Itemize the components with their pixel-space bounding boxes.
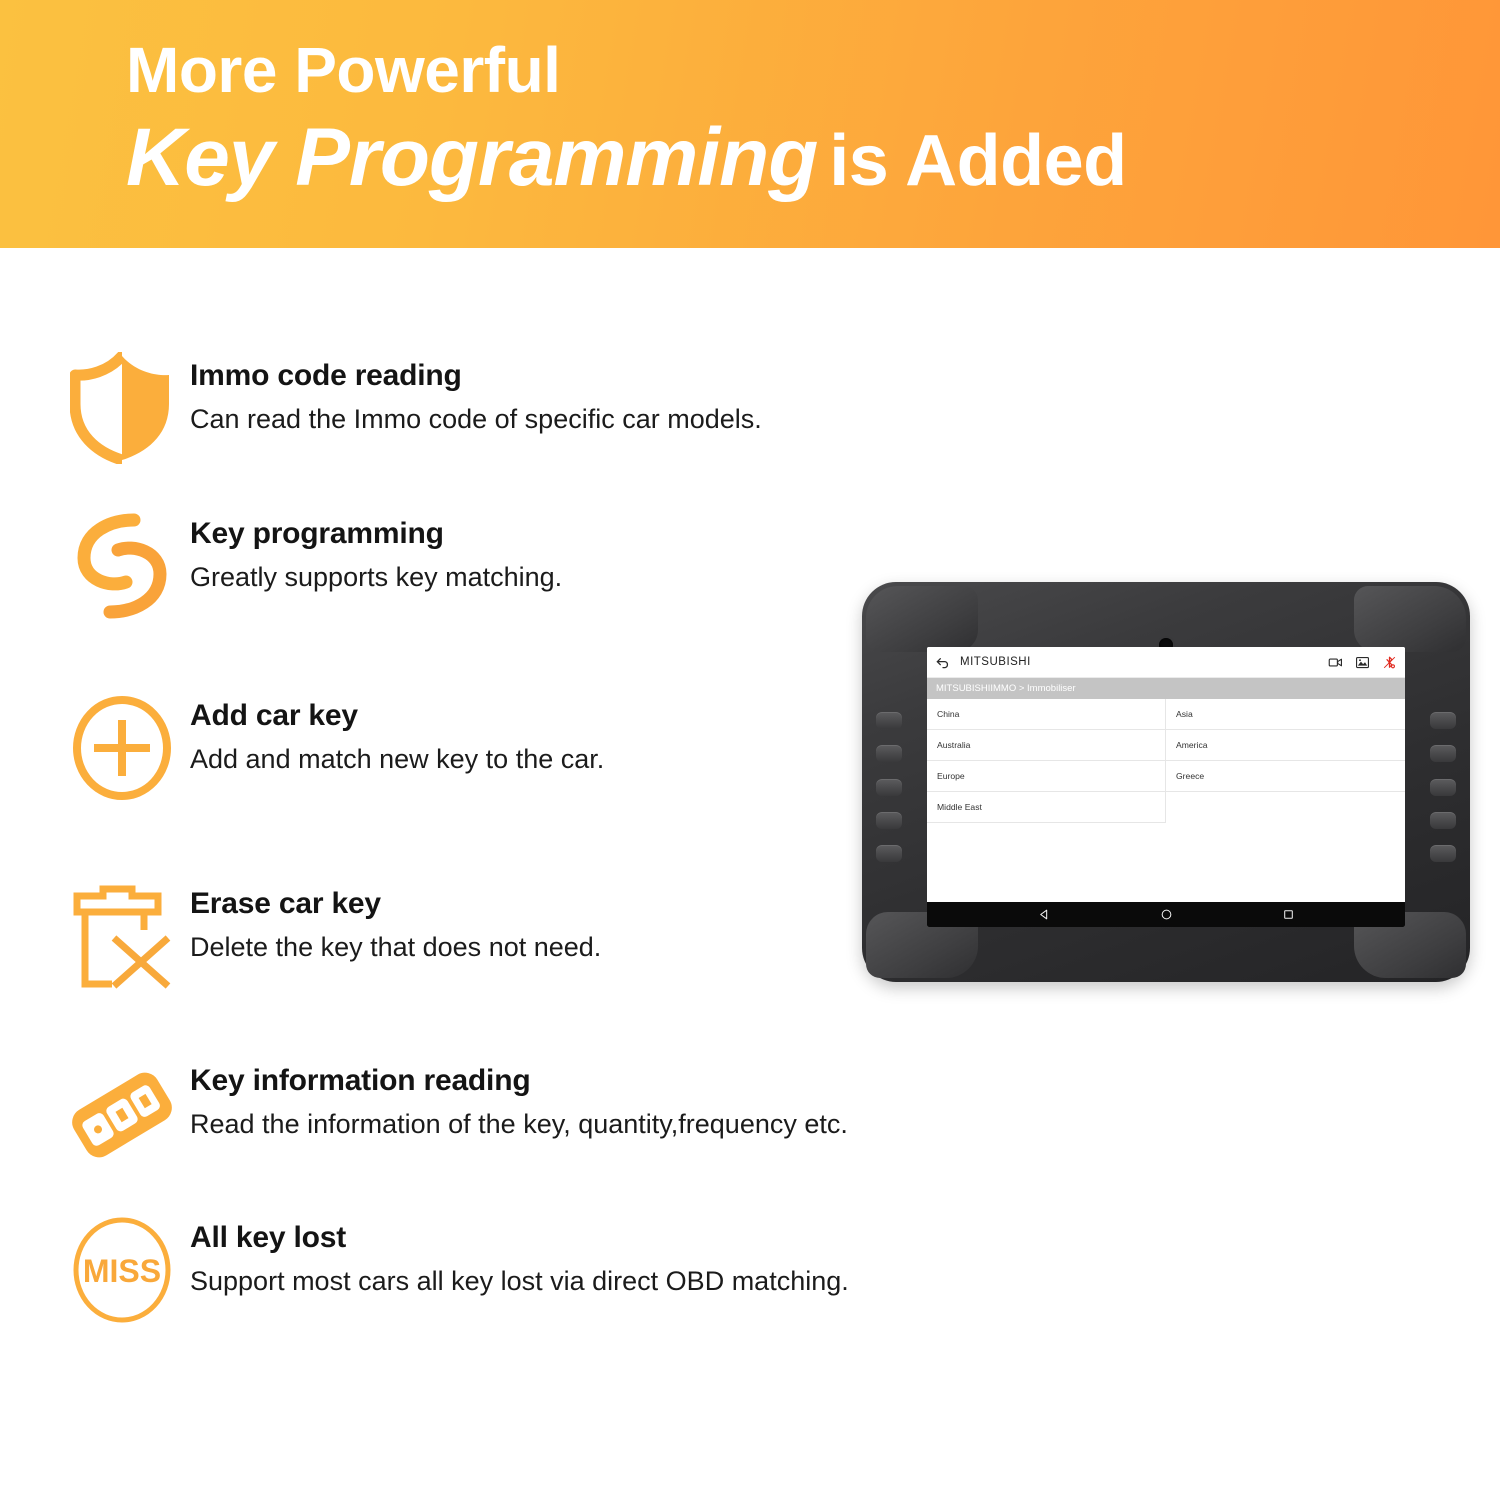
feature-item-all-key-lost: MISS All key lost Support most cars all … bbox=[60, 1214, 849, 1326]
menu-item-empty bbox=[1166, 792, 1405, 823]
grip-ridge bbox=[876, 812, 902, 829]
feature-description: Greatly supports key matching. bbox=[190, 561, 562, 595]
grip-ridge bbox=[876, 779, 902, 796]
feature-description: Delete the key that does not need. bbox=[190, 931, 601, 965]
case-bumper-top-right bbox=[1354, 586, 1466, 652]
android-back-button[interactable] bbox=[1036, 907, 1052, 923]
banner-tail-text: is Added bbox=[817, 121, 1126, 201]
feature-description: Read the information of the key, quantit… bbox=[190, 1108, 848, 1142]
feature-item-key-information-reading: Key information reading Read the informa… bbox=[60, 1057, 848, 1173]
rugged-diagnostic-tablet: MITSUBISHI bbox=[862, 582, 1470, 982]
menu-item-middle-east[interactable]: Middle East bbox=[927, 792, 1166, 823]
plus-circle-icon bbox=[60, 692, 184, 804]
svg-text:MISS: MISS bbox=[83, 1253, 161, 1289]
feature-text-block: Key information reading Read the informa… bbox=[184, 1057, 848, 1142]
feature-title: Immo code reading bbox=[190, 358, 762, 394]
screenshot-image-icon[interactable] bbox=[1354, 654, 1370, 670]
case-grip-ridges-left bbox=[876, 712, 902, 862]
feature-item-immo-code-reading: Immo code reading Can read the Immo code… bbox=[60, 352, 762, 464]
region-menu-grid: China Asia Australia America Europe Gree… bbox=[927, 699, 1405, 823]
menu-item-china[interactable]: China bbox=[927, 699, 1166, 730]
feature-title: Key programming bbox=[190, 516, 562, 552]
grip-ridge bbox=[1430, 712, 1456, 729]
banner-text-block: More Powerful Key Programmingis Added bbox=[126, 36, 1127, 201]
grip-ridge bbox=[876, 712, 902, 729]
feature-text-block: Add car key Add and match new key to the… bbox=[184, 692, 604, 777]
feature-description: Support most cars all key lost via direc… bbox=[190, 1265, 849, 1299]
app-topbar: MITSUBISHI bbox=[927, 647, 1405, 678]
menu-item-america[interactable]: America bbox=[1166, 730, 1405, 761]
feature-item-key-programming: Key programming Greatly supports key mat… bbox=[60, 510, 562, 622]
bluetooth-disconnected-icon[interactable] bbox=[1381, 654, 1397, 670]
key-fob-icon bbox=[60, 1057, 184, 1173]
feature-title: All key lost bbox=[190, 1220, 849, 1256]
feature-text-block: Erase car key Delete the key that does n… bbox=[184, 880, 601, 965]
feature-text-block: Immo code reading Can read the Immo code… bbox=[184, 352, 762, 437]
banner-headline-line2: Key Programmingis Added bbox=[126, 115, 1127, 201]
topbar-icon-group bbox=[1327, 654, 1397, 670]
swirl-key-programming-icon bbox=[60, 510, 184, 622]
feature-text-block: Key programming Greatly supports key mat… bbox=[184, 510, 562, 595]
tablet-screen: MITSUBISHI bbox=[927, 647, 1405, 927]
shield-icon bbox=[60, 352, 184, 464]
case-grip-ridges-right bbox=[1430, 712, 1456, 862]
android-recents-button[interactable] bbox=[1280, 907, 1296, 923]
feature-title: Key information reading bbox=[190, 1063, 848, 1099]
feature-text-block: All key lost Support most cars all key l… bbox=[184, 1214, 849, 1299]
feature-description: Add and match new key to the car. bbox=[190, 743, 604, 777]
app-title: MITSUBISHI bbox=[960, 656, 1031, 668]
grip-ridge bbox=[876, 745, 902, 762]
feature-item-erase-car-key: Erase car key Delete the key that does n… bbox=[60, 880, 601, 992]
banner-emphasis-text: Key Programming bbox=[126, 112, 817, 203]
menu-item-europe[interactable]: Europe bbox=[927, 761, 1166, 792]
back-arrow-icon[interactable] bbox=[934, 653, 952, 671]
banner-headline-line1: More Powerful bbox=[126, 36, 1127, 105]
video-record-icon[interactable] bbox=[1327, 654, 1343, 670]
trash-x-icon bbox=[60, 880, 184, 992]
feature-item-add-car-key: Add car key Add and match new key to the… bbox=[60, 692, 604, 804]
feature-title: Add car key bbox=[190, 698, 604, 734]
breadcrumb: MITSUBISHIIMMO > Immobiliser bbox=[927, 678, 1405, 699]
grip-ridge bbox=[1430, 779, 1456, 796]
promo-header-banner: More Powerful Key Programmingis Added bbox=[0, 0, 1500, 248]
menu-item-greece[interactable]: Greece bbox=[1166, 761, 1405, 792]
menu-item-australia[interactable]: Australia bbox=[927, 730, 1166, 761]
case-bumper-top-left bbox=[866, 586, 978, 652]
grip-ridge bbox=[876, 845, 902, 862]
miss-circle-icon: MISS bbox=[60, 1214, 184, 1326]
menu-item-asia[interactable]: Asia bbox=[1166, 699, 1405, 730]
grip-ridge bbox=[1430, 812, 1456, 829]
feature-description: Can read the Immo code of specific car m… bbox=[190, 403, 762, 437]
grip-ridge bbox=[1430, 745, 1456, 762]
android-home-button[interactable] bbox=[1158, 907, 1174, 923]
android-navigation-bar bbox=[927, 902, 1405, 927]
feature-title: Erase car key bbox=[190, 886, 601, 922]
grip-ridge bbox=[1430, 845, 1456, 862]
